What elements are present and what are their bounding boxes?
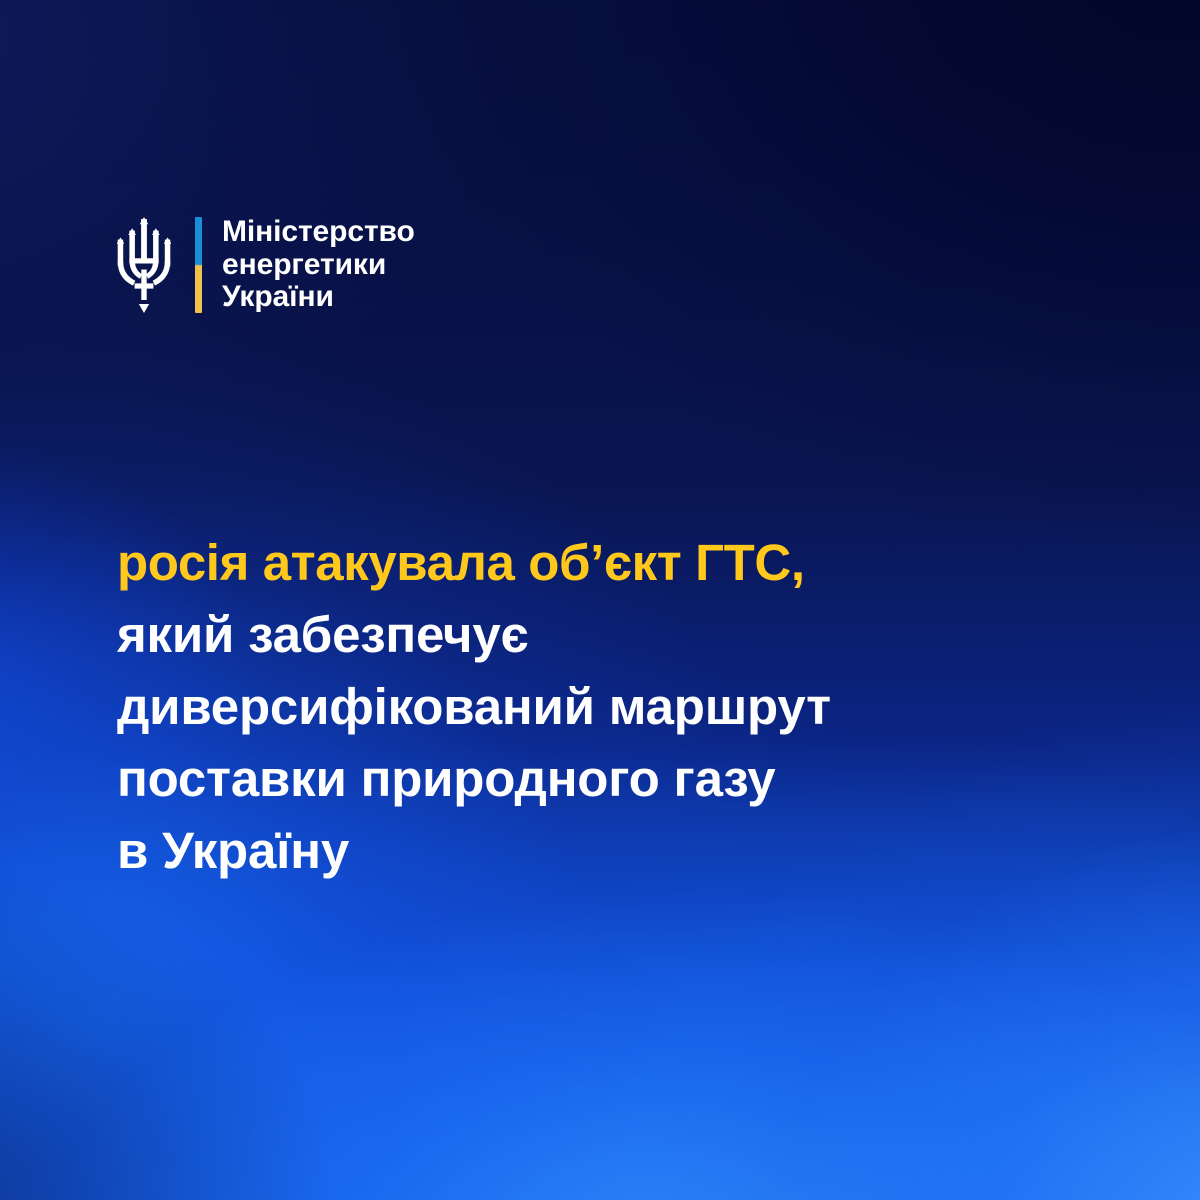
flag-divider-bar-icon	[195, 217, 202, 313]
headline: росія атакувала об’єкт ГТС, який забезпе…	[117, 527, 1077, 887]
ministry-name-line-2: енергетики	[222, 249, 415, 282]
headline-line-3: диверсифікований маршрут	[117, 671, 1077, 743]
headline-line-4: поставки природного газу	[117, 743, 1077, 815]
ministry-logo-lockup[interactable]: Міністерство енергетики України	[113, 216, 415, 314]
ministry-name: Міністерство енергетики України	[222, 216, 415, 314]
headline-line-2: який забезпечує	[117, 599, 1077, 671]
social-card: Міністерство енергетики України росія ат…	[0, 0, 1200, 1200]
ministry-name-line-3: України	[222, 281, 415, 314]
ukrainian-trident-icon	[113, 217, 175, 313]
headline-line-5: в Україну	[117, 815, 1077, 887]
headline-line-1: росія атакувала об’єкт ГТС,	[117, 527, 1077, 599]
ministry-name-line-1: Міністерство	[222, 216, 415, 249]
card-content: Міністерство енергетики України росія ат…	[0, 0, 1200, 1200]
